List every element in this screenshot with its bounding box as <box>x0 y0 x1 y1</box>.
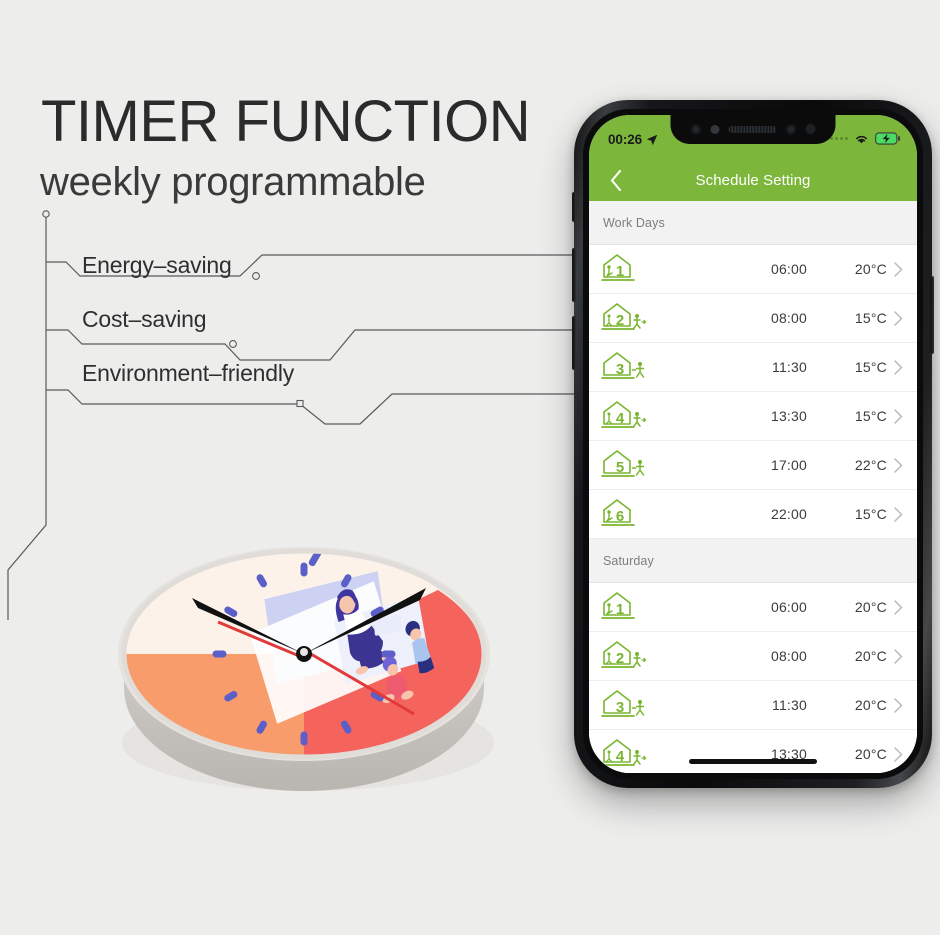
svg-text:4: 4 <box>616 410 625 427</box>
schedule-time: 22:00 <box>755 506 807 522</box>
page-subtitle: weekly programmable <box>40 160 426 205</box>
feature-label-environment-friendly: Environment–friendly <box>82 360 294 387</box>
location-arrow-icon <box>646 134 658 146</box>
schedule-time: 06:00 <box>755 599 807 615</box>
home-away-icon: 5 <box>601 448 647 482</box>
schedule-temperature: 20°C <box>841 697 887 713</box>
schedule-time: 11:30 <box>755 359 807 375</box>
back-button[interactable] <box>603 167 629 193</box>
wall-clock-illustration <box>108 538 500 806</box>
schedule-row[interactable]: 311:3020°C <box>589 681 917 730</box>
svg-text:1: 1 <box>616 263 624 280</box>
ir-camera-icon <box>786 124 797 135</box>
home-occupied-icon: 1 <box>601 252 647 286</box>
chevron-right-icon <box>894 360 903 375</box>
phone-power-button[interactable] <box>930 276 934 354</box>
schedule-row[interactable]: 413:3020°C <box>589 730 917 773</box>
schedule-row[interactable]: 208:0020°C <box>589 632 917 681</box>
section-header: Work Days <box>589 201 917 245</box>
schedule-row[interactable]: 517:0022°C <box>589 441 917 490</box>
home-leaving-icon: 2 <box>601 301 647 335</box>
phone-mute-switch[interactable] <box>572 192 576 222</box>
home-indicator[interactable] <box>689 759 817 764</box>
chevron-right-icon <box>894 747 903 762</box>
page-title: TIMER FUNCTION <box>41 92 530 153</box>
schedule-time: 06:00 <box>755 261 807 277</box>
feature-label-energy-saving: Energy–saving <box>82 252 232 279</box>
phone-bezel: 00:26 <box>583 109 923 779</box>
home-occupied-icon: 1 <box>601 590 647 624</box>
schedule-temperature: 20°C <box>841 746 887 762</box>
status-bar: 00:26 <box>589 115 917 159</box>
schedule-row[interactable]: 208:0015°C <box>589 294 917 343</box>
chevron-right-icon <box>894 409 903 424</box>
earpiece-speaker-icon <box>729 126 777 133</box>
schedule-temperature: 15°C <box>841 359 887 375</box>
schedule-row[interactable]: 106:0020°C <box>589 583 917 632</box>
schedule-temperature: 15°C <box>841 506 887 522</box>
phone-notch <box>671 115 836 144</box>
home-occupied-icon: 6 <box>601 497 647 531</box>
schedule-list[interactable]: Work Days106:0020°C208:0015°C311:3015°C4… <box>589 201 917 773</box>
schedule-temperature: 20°C <box>841 648 887 664</box>
wifi-icon <box>854 133 869 145</box>
schedule-time: 08:00 <box>755 648 807 664</box>
phone-volume-down-button[interactable] <box>572 316 576 370</box>
chevron-right-icon <box>894 649 903 664</box>
phone-volume-up-button[interactable] <box>572 248 576 302</box>
home-away-icon: 3 <box>601 350 647 384</box>
schedule-row[interactable]: 311:3015°C <box>589 343 917 392</box>
schedule-time: 08:00 <box>755 310 807 326</box>
chevron-right-icon <box>894 507 903 522</box>
section-header: Saturday <box>589 539 917 583</box>
home-leaving-icon: 2 <box>601 639 647 673</box>
home-leaving-icon: 4 <box>601 737 647 771</box>
schedule-time: 13:30 <box>755 408 807 424</box>
svg-text:2: 2 <box>616 650 624 667</box>
chevron-left-icon <box>610 170 622 191</box>
schedule-temperature: 20°C <box>841 261 887 277</box>
chevron-right-icon <box>894 458 903 473</box>
home-away-icon: 3 <box>601 688 647 722</box>
poster-canvas: TIMER FUNCTION weekly programmable Energ… <box>0 0 940 935</box>
svg-text:6: 6 <box>616 508 624 525</box>
battery-charging-icon <box>875 132 900 145</box>
schedule-time: 11:30 <box>755 697 807 713</box>
ambient-sensor-icon <box>711 125 720 134</box>
home-leaving-icon: 4 <box>601 399 647 433</box>
schedule-time: 17:00 <box>755 457 807 473</box>
schedule-row[interactable]: 622:0015°C <box>589 490 917 539</box>
chevron-right-icon <box>894 600 903 615</box>
svg-text:5: 5 <box>616 459 624 476</box>
status-bar-clock: 00:26 <box>608 132 642 147</box>
phone-screen: 00:26 <box>589 115 917 773</box>
schedule-temperature: 15°C <box>841 408 887 424</box>
nav-bar: Schedule Setting <box>589 159 917 201</box>
svg-text:4: 4 <box>616 748 625 765</box>
status-bar-right <box>830 132 900 145</box>
schedule-row[interactable]: 413:3015°C <box>589 392 917 441</box>
nav-title: Schedule Setting <box>695 172 810 189</box>
svg-text:3: 3 <box>616 699 624 716</box>
proximity-sensor-icon <box>806 124 816 134</box>
schedule-temperature: 22°C <box>841 457 887 473</box>
status-bar-left: 00:26 <box>608 132 658 147</box>
chevron-right-icon <box>894 311 903 326</box>
smartphone-mockup: 00:26 <box>574 100 932 788</box>
schedule-temperature: 15°C <box>841 310 887 326</box>
schedule-row[interactable]: 106:0020°C <box>589 245 917 294</box>
chevron-right-icon <box>894 698 903 713</box>
schedule-temperature: 20°C <box>841 599 887 615</box>
svg-text:2: 2 <box>616 312 624 329</box>
feature-label-cost-saving: Cost–saving <box>82 306 206 333</box>
front-camera-icon <box>691 124 702 135</box>
signal-dots-icon <box>830 137 848 140</box>
svg-text:3: 3 <box>616 361 624 378</box>
chevron-right-icon <box>894 262 903 277</box>
svg-text:1: 1 <box>616 601 624 618</box>
